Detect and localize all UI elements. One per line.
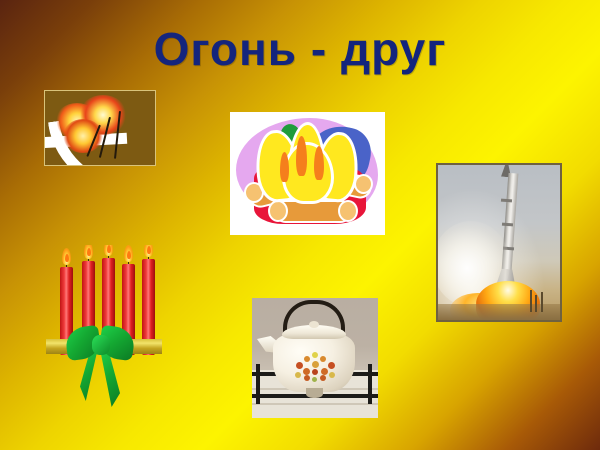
campfire-log-front-end-left	[268, 200, 288, 222]
kettle-floral-decal	[290, 351, 338, 381]
image-campfire-caption: Костёр	[230, 112, 231, 113]
decal-petal	[320, 375, 326, 381]
kettle-lid-knob	[309, 321, 319, 328]
image-candles-caption: Пять горящих свечей	[44, 245, 45, 246]
decal-petal	[320, 356, 326, 362]
image-campfire[interactable]: Костёр	[230, 112, 385, 235]
campfire-flame-core-2	[314, 146, 324, 180]
page-title: Огонь - друг	[0, 22, 600, 76]
decal-petal	[312, 352, 318, 358]
kettle-foot	[306, 388, 323, 398]
candle-flame-core-4	[127, 251, 131, 259]
decal-petal	[321, 368, 328, 375]
decal-petal	[312, 377, 317, 382]
decal-petal	[304, 356, 310, 362]
launch-tower-2	[535, 295, 537, 312]
sparkler-burst-3	[63, 119, 103, 153]
slide-canvas: Огонь - друг Бенгальские огни	[0, 0, 600, 450]
decal-petal	[329, 372, 335, 378]
decal-petal	[304, 375, 310, 381]
stove-grate-bar-4	[368, 364, 372, 404]
image-sparklers-caption: Бенгальские огни	[45, 91, 46, 92]
image-rocket-launch[interactable]: Запуск ракеты	[436, 163, 562, 322]
decal-petal	[295, 372, 301, 378]
launch-tower-1	[530, 290, 532, 312]
stove-grate-bar-3	[256, 364, 260, 404]
candle-flame-core-3	[107, 245, 111, 253]
decal-petal	[303, 368, 310, 375]
decal-petal	[296, 362, 303, 369]
decal-petal	[312, 361, 319, 368]
campfire-flame-core-3	[280, 152, 289, 182]
launch-tower-3	[541, 292, 543, 312]
campfire-log-front-end-right	[338, 200, 358, 222]
candle-flame-core-1	[65, 254, 69, 262]
image-sparklers[interactable]: Бенгальские огни	[44, 90, 156, 166]
image-kettle[interactable]: Чайник на газовой плите	[252, 298, 378, 418]
image-candles[interactable]: Пять горящих свечей	[44, 245, 164, 410]
candle-flame-core-2	[87, 248, 91, 256]
decal-petal	[328, 362, 335, 369]
candle-flame-core-5	[147, 246, 151, 254]
image-kettle-caption: Чайник на газовой плите	[252, 298, 253, 299]
decal-petal	[312, 369, 318, 375]
bow-knot	[92, 335, 110, 355]
